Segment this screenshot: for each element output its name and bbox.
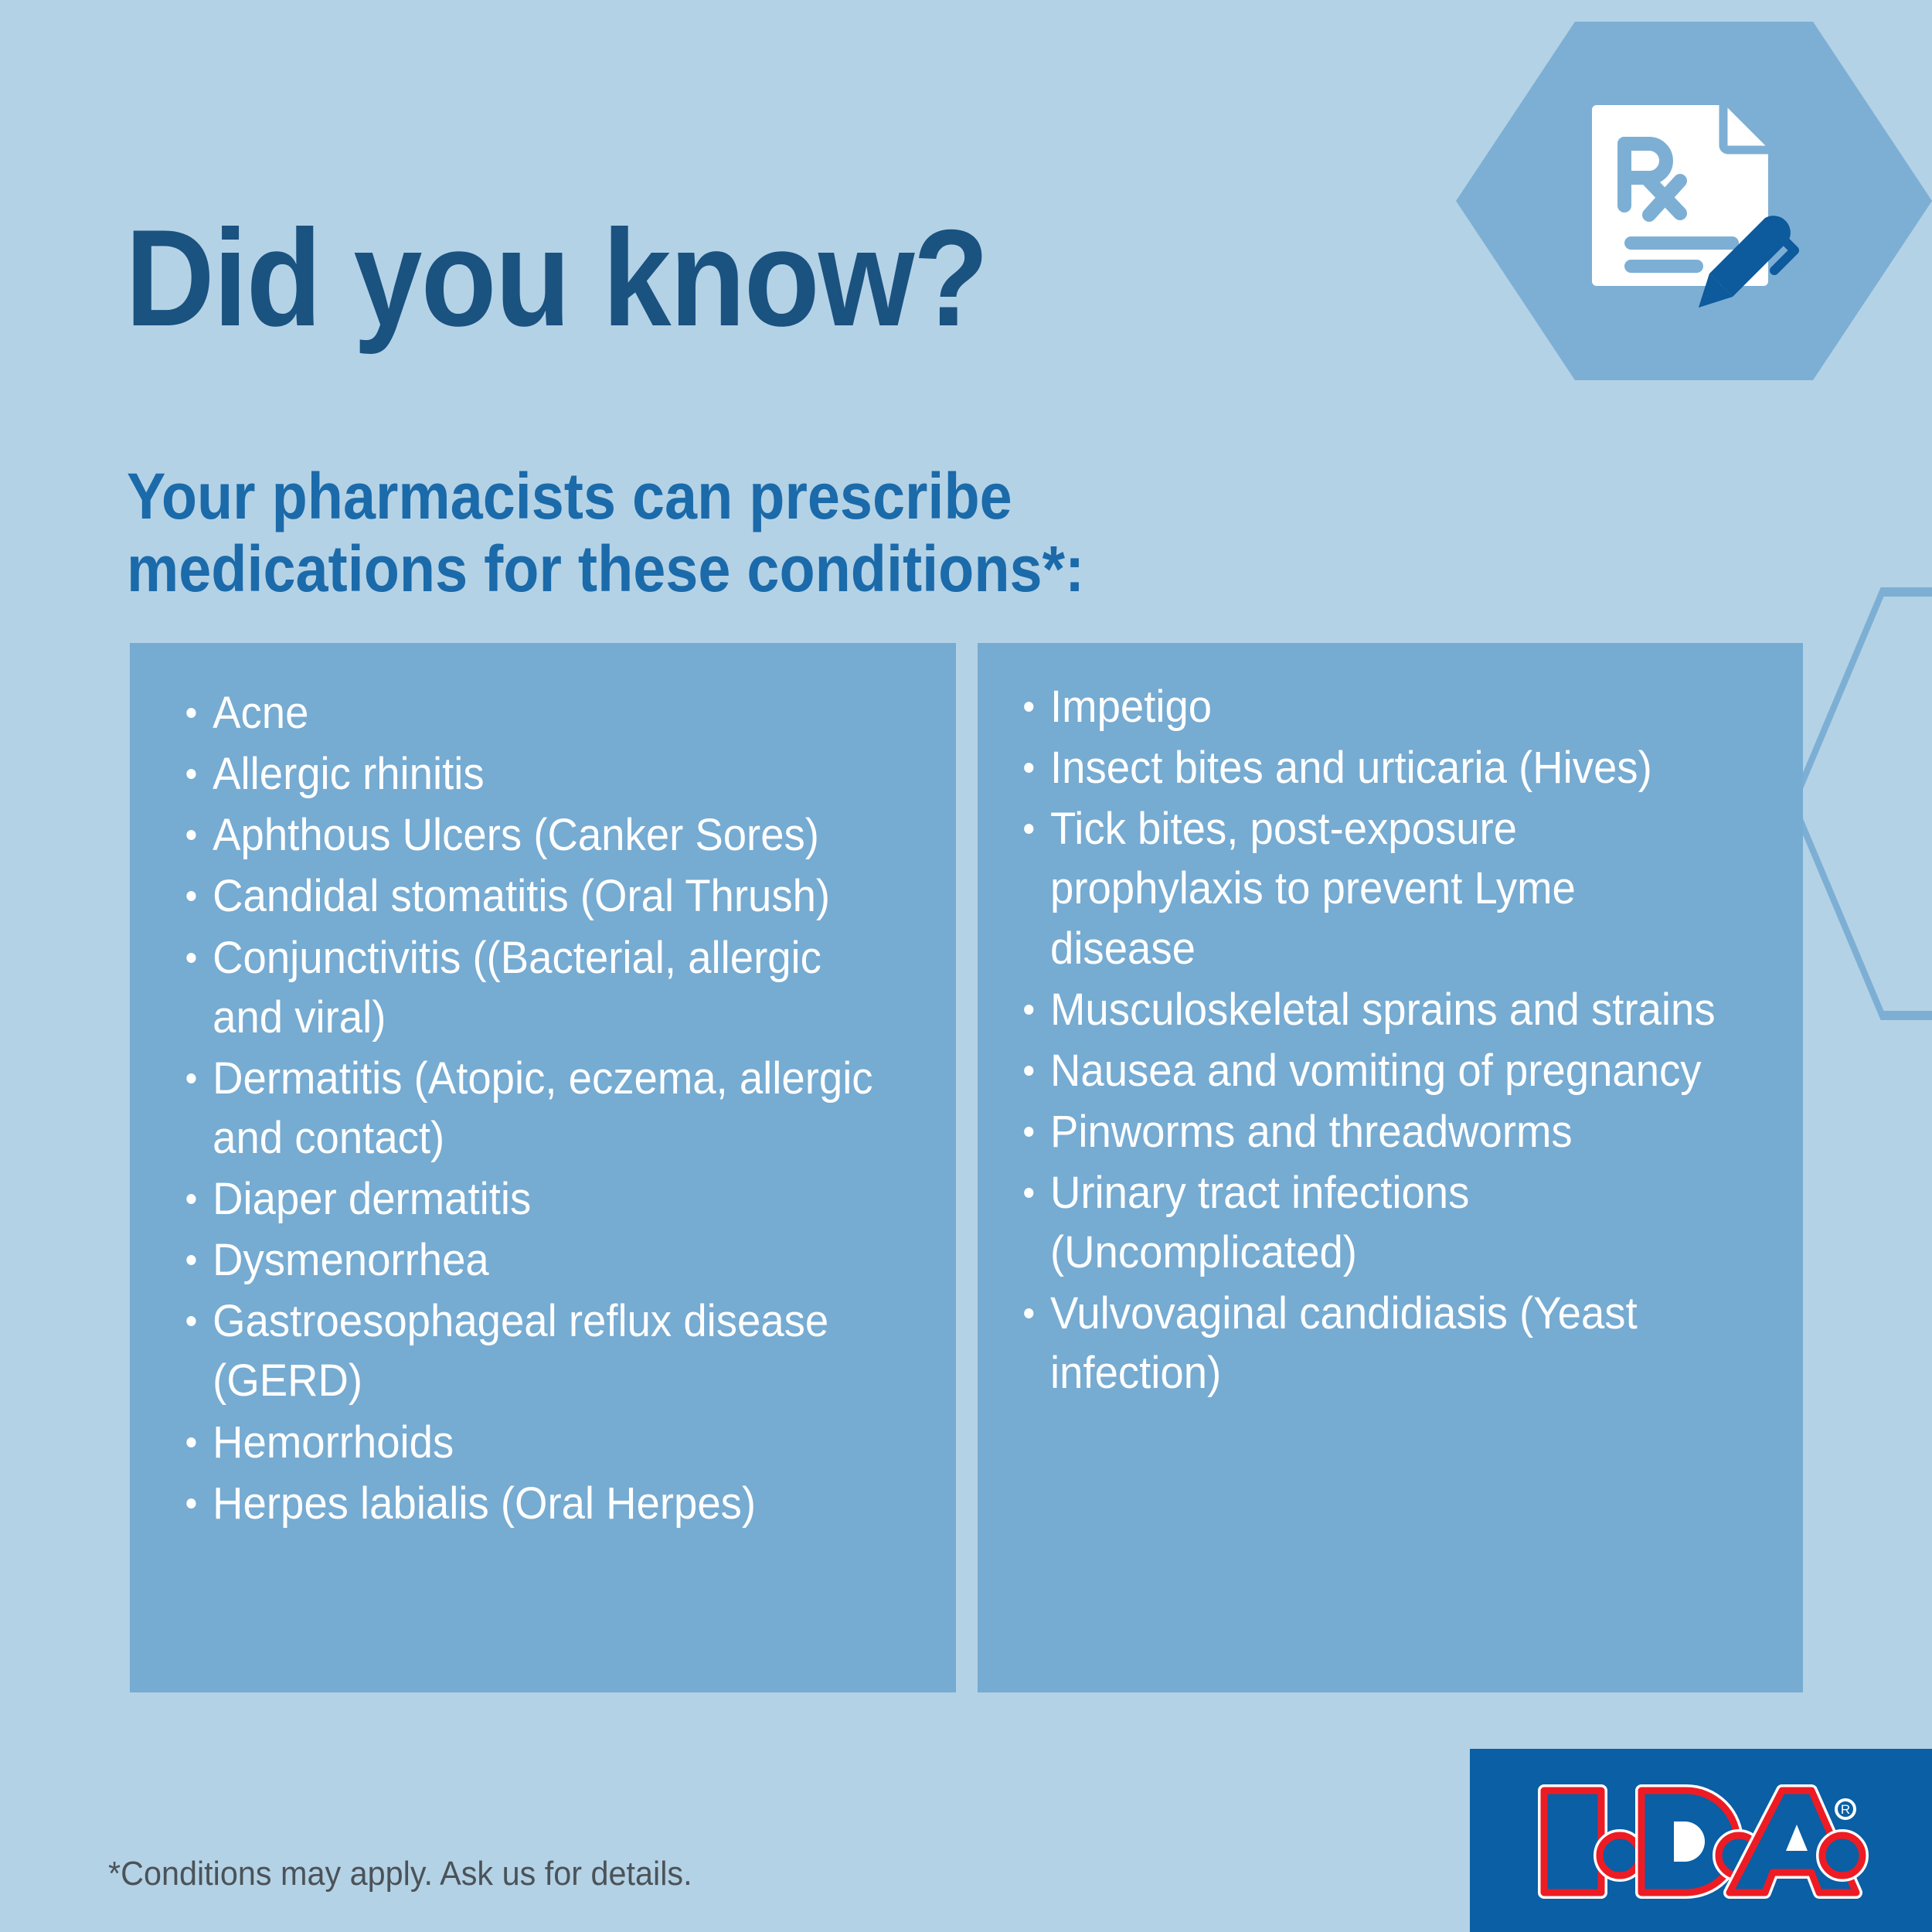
list-item: Conjunctivitis ((Bacterial, allergic and… (182, 928, 878, 1047)
list-item: Urinary tract infections (Uncomplicated) (1020, 1163, 1725, 1282)
page-subtitle: Your pharmacists can prescribe medicatio… (127, 460, 1084, 605)
page-title: Did you know? (125, 209, 988, 347)
conditions-panel-right: ImpetigoInsect bites and urticaria (Hive… (978, 643, 1803, 1692)
list-item: Tick bites, post-exposure prophylaxis to… (1020, 799, 1725, 978)
list-item: Herpes labialis (Oral Herpes) (182, 1474, 878, 1533)
svg-text:R: R (1841, 1802, 1850, 1817)
list-item: Dysmenorrhea (182, 1230, 878, 1290)
list-item: Hemorrhoids (182, 1413, 878, 1472)
list-item: Aphthous Ulcers (Canker Sores) (182, 805, 878, 865)
infographic-canvas: Did you know? Your pharmacists can presc… (0, 0, 1932, 1932)
list-item: Musculoskeletal sprains and strains (1020, 980, 1725, 1039)
footer-disclaimer: *Conditions may apply. Ask us for detail… (108, 1855, 692, 1893)
list-item: Candidal stomatitis (Oral Thrush) (182, 866, 878, 926)
prescription-document-icon (1586, 100, 1810, 325)
list-item: Pinworms and threadworms (1020, 1102, 1725, 1162)
list-item: Gastroesophageal reflux disease (GERD) (182, 1291, 878, 1410)
registered-mark: R (1836, 1800, 1855, 1818)
ida-logo-mark: R (1536, 1784, 1869, 1899)
list-item: Dermatitis (Atopic, eczema, allergic and… (182, 1049, 878, 1168)
conditions-list-right: ImpetigoInsect bites and urticaria (Hive… (978, 643, 1753, 1403)
ida-logo-block: R (1470, 1749, 1932, 1932)
list-item: Nausea and vomiting of pregnancy (1020, 1041, 1725, 1100)
list-item: Acne (182, 683, 878, 743)
list-item: Diaper dermatitis (182, 1169, 878, 1229)
conditions-panel-left: AcneAllergic rhinitisAphthous Ulcers (Ca… (130, 643, 956, 1692)
list-item: Insect bites and urticaria (Hives) (1020, 738, 1725, 798)
list-item: Impetigo (1020, 677, 1725, 736)
list-item: Vulvovaginal candidiasis (Yeast infectio… (1020, 1284, 1725, 1403)
list-item: Allergic rhinitis (182, 744, 878, 804)
conditions-list-left: AcneAllergic rhinitisAphthous Ulcers (Ca… (130, 643, 906, 1533)
hexagon-outline-interior (1797, 597, 1932, 1011)
